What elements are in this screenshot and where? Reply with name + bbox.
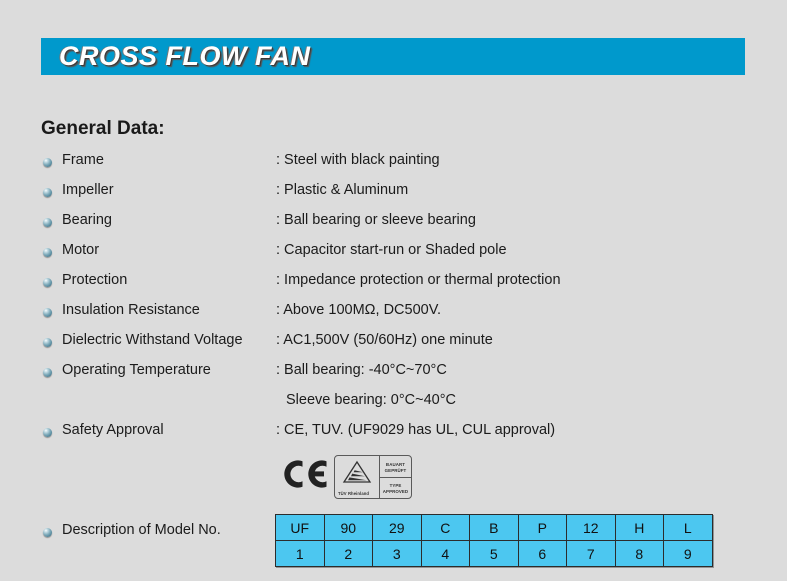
- table-cell: 2: [324, 541, 373, 567]
- bullet-icon: [43, 428, 52, 437]
- bullet-icon: [43, 278, 52, 287]
- spec-row: Bearing: Ball bearing or sleeve bearing: [41, 212, 747, 242]
- table-cell: UF: [276, 515, 325, 541]
- model-number-table: UF9029CBP12HL123456789: [275, 514, 713, 567]
- bullet-icon: [43, 218, 52, 227]
- spec-value: : CE, TUV. (UF9029 has UL, CUL approval): [276, 422, 555, 438]
- tuv-bauart-block: BAUART GEPRÜFT: [380, 456, 411, 478]
- table-cell: P: [518, 515, 567, 541]
- spec-label: Dielectric Withstand Voltage: [62, 332, 243, 348]
- bullet-icon: [43, 528, 52, 537]
- table-cell: 5: [470, 541, 519, 567]
- bullet-icon: [43, 368, 52, 377]
- spec-value: : Steel with black painting: [276, 152, 440, 168]
- spec-row: Motor: Capacitor start-run or Shaded pol…: [41, 242, 747, 272]
- tuv-rheinland-mark-icon: TÜV Rheinland BAUART GEPRÜFT TYPE APPROV…: [334, 455, 412, 499]
- spec-label: Safety Approval: [62, 422, 164, 438]
- table-cell: B: [470, 515, 519, 541]
- page-title-banner: CROSS FLOW FAN: [41, 38, 745, 75]
- spec-row: Operating Temperature: Ball bearing: -40…: [41, 362, 747, 392]
- spec-row: Insulation Resistance: Above 100MΩ, DC50…: [41, 302, 747, 332]
- model-number-table-body: UF9029CBP12HL123456789: [276, 515, 713, 567]
- spec-value: : AC1,500V (50/60Hz) one minute: [276, 332, 493, 348]
- spec-row: Frame: Steel with black painting: [41, 152, 747, 182]
- tuv-logo-area: TÜV Rheinland: [335, 456, 380, 498]
- table-row: UF9029CBP12HL: [276, 515, 713, 541]
- table-cell: 9: [664, 541, 713, 567]
- tuv-line-geprueft: GEPRÜFT: [380, 468, 411, 474]
- bullet-icon: [43, 248, 52, 257]
- model-number-label-row: Description of Model No.: [41, 522, 281, 552]
- spec-row: Safety Approval: CE, TUV. (UF9029 has UL…: [41, 422, 747, 452]
- ce-mark-icon: [281, 457, 329, 496]
- table-cell: C: [421, 515, 470, 541]
- spec-row: Protection: Impedance protection or ther…: [41, 272, 747, 302]
- tuv-line-approved: APPROVED: [380, 489, 411, 495]
- spec-value: : Impedance protection or thermal protec…: [276, 272, 561, 288]
- table-cell: 1: [276, 541, 325, 567]
- spec-value-continuation: Sleeve bearing: 0°C~40°C: [286, 392, 456, 408]
- bullet-icon: [43, 308, 52, 317]
- bullet-icon: [43, 338, 52, 347]
- spec-label: Bearing: [62, 212, 112, 228]
- table-cell: 8: [615, 541, 664, 567]
- spec-label: Impeller: [62, 182, 114, 198]
- spec-value: : Capacitor start-run or Shaded pole: [276, 242, 507, 258]
- table-cell: 29: [373, 515, 422, 541]
- table-cell: 90: [324, 515, 373, 541]
- spec-label: Insulation Resistance: [62, 302, 200, 318]
- table-cell: 12: [567, 515, 616, 541]
- bullet-icon: [43, 188, 52, 197]
- bullet-icon: [43, 158, 52, 167]
- spec-value: : Ball bearing or sleeve bearing: [276, 212, 476, 228]
- spec-value: : Plastic & Aluminum: [276, 182, 408, 198]
- spec-label: Motor: [62, 242, 99, 258]
- model-number-label: Description of Model No.: [62, 522, 221, 538]
- spec-label: Protection: [62, 272, 127, 288]
- tuv-approval-text: BAUART GEPRÜFT TYPE APPROVED: [380, 456, 411, 498]
- table-cell: L: [664, 515, 713, 541]
- tuv-type-block: TYPE APPROVED: [380, 478, 411, 494]
- spec-label: Frame: [62, 152, 104, 168]
- spec-value: : Above 100MΩ, DC500V.: [276, 302, 441, 318]
- table-cell: 6: [518, 541, 567, 567]
- table-cell: 3: [373, 541, 422, 567]
- table-cell: 7: [567, 541, 616, 567]
- spec-row: Sleeve bearing: 0°C~40°C: [41, 392, 747, 422]
- table-cell: H: [615, 515, 664, 541]
- section-heading-general-data: General Data:: [41, 118, 165, 140]
- tuv-brand-label: TÜV Rheinland: [338, 491, 369, 496]
- table-row: 123456789: [276, 541, 713, 567]
- spec-row: Dielectric Withstand Voltage: AC1,500V (…: [41, 332, 747, 362]
- page-title: CROSS FLOW FAN: [59, 41, 311, 72]
- general-data-spec-list: Frame: Steel with black paintingImpeller…: [41, 152, 747, 452]
- spec-value: : Ball bearing: -40°C~70°C: [276, 362, 447, 378]
- spec-row: Impeller: Plastic & Aluminum: [41, 182, 747, 212]
- table-cell: 4: [421, 541, 470, 567]
- spec-label: Operating Temperature: [62, 362, 211, 378]
